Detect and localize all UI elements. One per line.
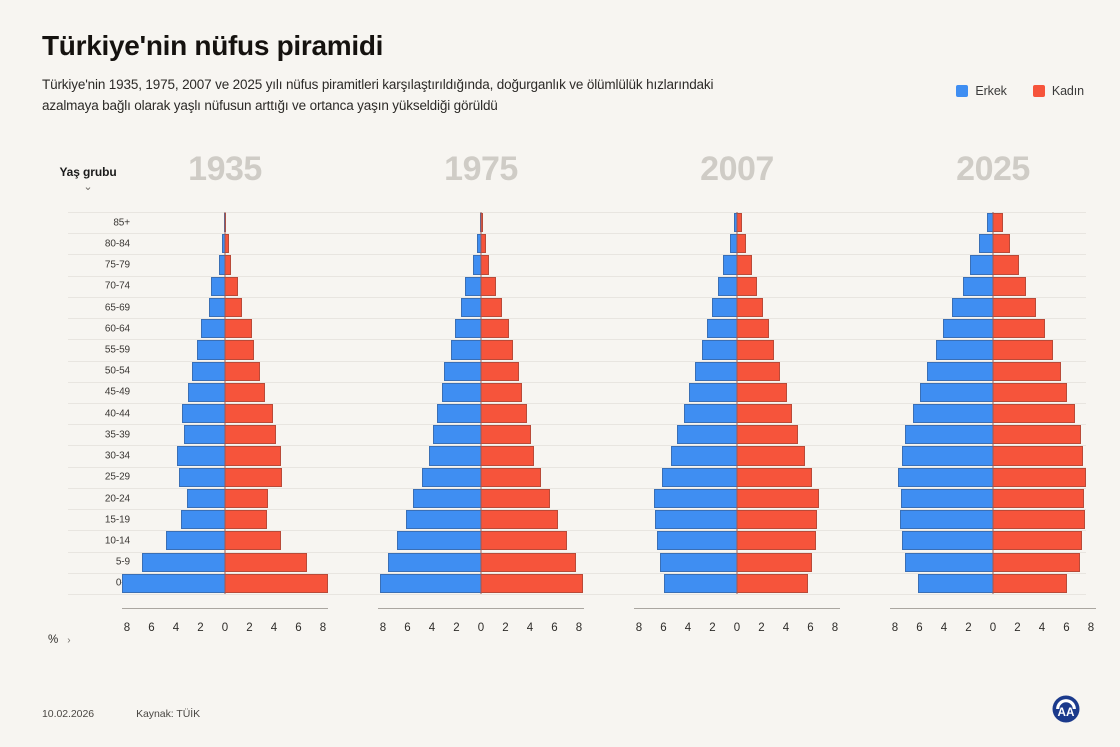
bar-male-1935-35-39[interactable]	[184, 425, 225, 444]
bar-male-1975-25-29[interactable]	[422, 468, 481, 487]
x-tick: 4	[1035, 622, 1049, 634]
x-axis-ticks-1935: 864202468	[110, 622, 340, 634]
bar-female-2007-85+[interactable]	[737, 213, 742, 232]
year-label-2025: 2025	[878, 152, 1108, 186]
bar-female-1975-45-49[interactable]	[481, 383, 522, 402]
x-tick: 2	[194, 622, 208, 634]
x-tick: 6	[401, 622, 415, 634]
bar-female-2007-15-19[interactable]	[737, 510, 817, 529]
bar-male-2025-40-44[interactable]	[913, 404, 993, 423]
bar-male-2007-60-64[interactable]	[707, 319, 737, 338]
bar-female-2007-30-34[interactable]	[737, 446, 805, 465]
bar-female-2007-10-14[interactable]	[737, 531, 816, 550]
bar-male-1935-60-64[interactable]	[201, 319, 225, 338]
center-axis-line	[993, 212, 994, 594]
bar-female-2025-55-59[interactable]	[993, 340, 1053, 359]
bar-male-2025-30-34[interactable]	[902, 446, 993, 465]
x-axis-rule-2007	[634, 608, 840, 609]
percent-symbol: %	[48, 634, 58, 646]
page-title: Türkiye'nin nüfus piramidi	[42, 30, 1082, 62]
bar-female-2007-45-49[interactable]	[737, 383, 787, 402]
bar-female-1975-5-9[interactable]	[481, 553, 576, 572]
bar-male-1935-65-69[interactable]	[209, 298, 225, 317]
bar-female-2025-65-69[interactable]	[993, 298, 1036, 317]
bar-female-2025-15-19[interactable]	[993, 510, 1085, 529]
bar-female-2007-60-64[interactable]	[737, 319, 769, 338]
x-tick: 4	[937, 622, 951, 634]
x-tick: 2	[499, 622, 513, 634]
bar-male-2007-0-4[interactable]	[664, 574, 737, 593]
year-label-2007: 2007	[622, 152, 852, 186]
pyramid-panel-2007: 2007864202468	[622, 150, 852, 660]
bar-female-2007-65-69[interactable]	[737, 298, 763, 317]
bar-male-1975-35-39[interactable]	[433, 425, 481, 444]
bar-male-1935-50-54[interactable]	[192, 362, 225, 381]
bar-male-1975-45-49[interactable]	[442, 383, 481, 402]
bar-female-1935-60-64[interactable]	[225, 319, 252, 338]
svg-text:AA: AA	[1058, 706, 1075, 719]
bar-male-2007-25-29[interactable]	[662, 468, 737, 487]
x-tick: 2	[1011, 622, 1025, 634]
plot-area-1975	[366, 212, 596, 594]
bar-female-1975-75-79[interactable]	[481, 255, 489, 274]
bar-female-2025-75-79[interactable]	[993, 255, 1019, 274]
bar-female-1935-70-74[interactable]	[225, 277, 238, 296]
x-axis-ticks-2025: 864202468	[878, 622, 1108, 634]
x-axis-rule-1935	[122, 608, 328, 609]
x-tick: 8	[1084, 622, 1098, 634]
bar-female-1935-30-34[interactable]	[225, 446, 281, 465]
bar-male-1935-15-19[interactable]	[181, 510, 225, 529]
legend-swatch-erkek	[956, 85, 968, 97]
bar-male-2007-65-69[interactable]	[712, 298, 737, 317]
bar-female-2007-55-59[interactable]	[737, 340, 774, 359]
bar-male-1935-45-49[interactable]	[188, 383, 225, 402]
bar-female-1975-20-24[interactable]	[481, 489, 550, 508]
bar-female-2025-70-74[interactable]	[993, 277, 1026, 296]
pyramid-panel-1975: 1975864202468	[366, 150, 596, 660]
plot-area-2007	[622, 212, 852, 594]
plot-area-1935	[110, 212, 340, 594]
bar-female-2007-80-84[interactable]	[737, 234, 746, 253]
bar-female-1975-70-74[interactable]	[481, 277, 496, 296]
bar-male-2007-45-49[interactable]	[689, 383, 737, 402]
bar-male-2007-40-44[interactable]	[684, 404, 737, 423]
bar-female-2007-50-54[interactable]	[737, 362, 780, 381]
x-tick: 4	[523, 622, 537, 634]
x-axis-ticks-1975: 864202468	[366, 622, 596, 634]
bar-female-1975-25-29[interactable]	[481, 468, 541, 487]
bar-male-2007-15-19[interactable]	[655, 510, 737, 529]
bar-female-1935-80-84[interactable]	[225, 234, 229, 253]
x-tick: 2	[706, 622, 720, 634]
bar-female-1975-10-14[interactable]	[481, 531, 567, 550]
bar-female-2025-30-34[interactable]	[993, 446, 1083, 465]
bar-male-2025-15-19[interactable]	[900, 510, 993, 529]
bar-female-1935-15-19[interactable]	[225, 510, 267, 529]
x-tick: 8	[572, 622, 586, 634]
bar-female-1975-35-39[interactable]	[481, 425, 531, 444]
x-tick: 4	[425, 622, 439, 634]
bar-male-2025-0-4[interactable]	[918, 574, 993, 593]
bar-male-2025-45-49[interactable]	[920, 383, 993, 402]
bar-male-2007-50-54[interactable]	[695, 362, 737, 381]
x-tick: 6	[292, 622, 306, 634]
bar-female-1975-60-64[interactable]	[481, 319, 509, 338]
bar-female-2007-20-24[interactable]	[737, 489, 819, 508]
bar-male-1975-20-24[interactable]	[413, 489, 481, 508]
x-tick: 0	[474, 622, 488, 634]
bar-male-1975-30-34[interactable]	[429, 446, 481, 465]
bar-female-2025-5-9[interactable]	[993, 553, 1080, 572]
bar-male-2025-25-29[interactable]	[898, 468, 993, 487]
bar-male-1975-5-9[interactable]	[388, 553, 481, 572]
bar-male-1935-55-59[interactable]	[197, 340, 225, 359]
x-tick: 8	[316, 622, 330, 634]
footer-date: 10.02.2026	[42, 708, 94, 720]
bar-male-1935-25-29[interactable]	[179, 468, 225, 487]
bar-female-1935-75-79[interactable]	[225, 255, 231, 274]
x-tick: 8	[120, 622, 134, 634]
center-axis-line	[481, 212, 482, 594]
legend-label-erkek: Erkek	[975, 84, 1006, 98]
bar-female-2007-70-74[interactable]	[737, 277, 757, 296]
bar-male-2007-5-9[interactable]	[660, 553, 737, 572]
x-tick: 4	[267, 622, 281, 634]
bar-male-1975-40-44[interactable]	[437, 404, 481, 423]
bar-male-1975-0-4[interactable]	[380, 574, 481, 593]
bar-male-2025-70-74[interactable]	[963, 277, 993, 296]
x-tick: 6	[913, 622, 927, 634]
bar-male-2025-65-69[interactable]	[952, 298, 993, 317]
bar-male-2025-60-64[interactable]	[943, 319, 993, 338]
bar-female-1935-10-14[interactable]	[225, 531, 281, 550]
year-label-1975: 1975	[366, 152, 596, 186]
bar-female-2025-85+[interactable]	[993, 213, 1003, 232]
bar-female-2025-0-4[interactable]	[993, 574, 1067, 593]
bar-male-2007-70-74[interactable]	[718, 277, 737, 296]
bar-female-2007-35-39[interactable]	[737, 425, 798, 444]
bar-female-2025-20-24[interactable]	[993, 489, 1084, 508]
chevron-right-icon: ›	[67, 635, 70, 646]
bar-male-1975-60-64[interactable]	[455, 319, 481, 338]
bar-male-1935-20-24[interactable]	[187, 489, 225, 508]
bar-female-1935-20-24[interactable]	[225, 489, 268, 508]
x-tick: 4	[169, 622, 183, 634]
bar-female-2007-75-79[interactable]	[737, 255, 752, 274]
x-tick: 6	[657, 622, 671, 634]
bar-female-1935-35-39[interactable]	[225, 425, 276, 444]
x-tick: 2	[450, 622, 464, 634]
x-tick: 4	[681, 622, 695, 634]
footer-source: Kaynak: TÜİK	[136, 708, 200, 720]
page-subtitle: Türkiye'nin 1935, 1975, 2007 ve 2025 yıl…	[42, 75, 772, 117]
header: Türkiye'nin nüfus piramidi Türkiye'nin 1…	[42, 30, 1082, 117]
x-tick: 8	[632, 622, 646, 634]
x-tick: 2	[243, 622, 257, 634]
legend-swatch-kadin	[1033, 85, 1045, 97]
bar-female-1975-40-44[interactable]	[481, 404, 527, 423]
bar-female-1975-55-59[interactable]	[481, 340, 513, 359]
x-tick: 8	[376, 622, 390, 634]
bar-female-1935-65-69[interactable]	[225, 298, 242, 317]
bar-female-1935-25-29[interactable]	[225, 468, 282, 487]
bar-female-1935-50-54[interactable]	[225, 362, 260, 381]
bar-female-2007-5-9[interactable]	[737, 553, 812, 572]
pyramid-panel-1935: 1935864202468	[110, 150, 340, 660]
x-tick: 0	[218, 622, 232, 634]
bar-male-1975-15-19[interactable]	[406, 510, 481, 529]
x-tick: 8	[828, 622, 842, 634]
bar-male-2025-75-79[interactable]	[970, 255, 993, 274]
bar-female-1935-45-49[interactable]	[225, 383, 265, 402]
footer: 10.02.2026 Kaynak: TÜİK	[42, 708, 200, 720]
x-tick: 0	[986, 622, 1000, 634]
bar-male-2007-55-59[interactable]	[702, 340, 737, 359]
legend: Erkek Kadın	[956, 84, 1084, 98]
bar-male-2025-50-54[interactable]	[927, 362, 993, 381]
bar-male-2025-35-39[interactable]	[905, 425, 993, 444]
bar-male-1935-10-14[interactable]	[166, 531, 225, 550]
bar-female-1975-30-34[interactable]	[481, 446, 534, 465]
bar-female-1935-5-9[interactable]	[225, 553, 307, 572]
bar-male-1935-30-34[interactable]	[177, 446, 225, 465]
bar-female-2025-10-14[interactable]	[993, 531, 1082, 550]
bar-female-2025-45-49[interactable]	[993, 383, 1067, 402]
pyramid-panel-2025: 2025864202468	[878, 150, 1108, 660]
bar-female-1935-40-44[interactable]	[225, 404, 273, 423]
bar-male-2007-75-79[interactable]	[723, 255, 737, 274]
bar-female-1975-15-19[interactable]	[481, 510, 558, 529]
center-axis-line	[737, 212, 738, 594]
bar-male-2007-10-14[interactable]	[657, 531, 737, 550]
aa-logo: AA	[1048, 691, 1084, 727]
x-tick: 4	[779, 622, 793, 634]
bar-male-2025-10-14[interactable]	[902, 531, 993, 550]
year-label-1935: 1935	[110, 152, 340, 186]
legend-item-erkek[interactable]: Erkek	[956, 84, 1006, 98]
x-tick: 2	[755, 622, 769, 634]
bar-female-2007-0-4[interactable]	[737, 574, 808, 593]
bar-male-2025-80-84[interactable]	[979, 234, 993, 253]
bar-female-1935-55-59[interactable]	[225, 340, 254, 359]
x-tick: 6	[548, 622, 562, 634]
x-tick: 6	[1060, 622, 1074, 634]
bar-male-1975-50-54[interactable]	[444, 362, 481, 381]
bar-male-2025-5-9[interactable]	[905, 553, 993, 572]
bar-female-2025-35-39[interactable]	[993, 425, 1081, 444]
bar-female-2025-40-44[interactable]	[993, 404, 1075, 423]
x-tick: 2	[962, 622, 976, 634]
legend-item-kadin[interactable]: Kadın	[1033, 84, 1084, 98]
x-tick: 8	[888, 622, 902, 634]
center-axis-line	[225, 212, 226, 594]
bar-male-2025-55-59[interactable]	[936, 340, 993, 359]
bar-female-2025-25-29[interactable]	[993, 468, 1086, 487]
x-tick: 0	[730, 622, 744, 634]
bar-female-2007-25-29[interactable]	[737, 468, 812, 487]
bar-female-1935-0-4[interactable]	[225, 574, 328, 593]
x-tick: 6	[145, 622, 159, 634]
bar-male-1935-70-74[interactable]	[211, 277, 225, 296]
plot-area-2025	[878, 212, 1108, 594]
bar-female-2025-80-84[interactable]	[993, 234, 1010, 253]
x-tick: 6	[804, 622, 818, 634]
bar-female-1975-65-69[interactable]	[481, 298, 502, 317]
bar-male-1935-5-9[interactable]	[142, 553, 225, 572]
bar-male-2007-30-34[interactable]	[671, 446, 737, 465]
bar-female-2025-50-54[interactable]	[993, 362, 1061, 381]
bar-female-1975-80-84[interactable]	[481, 234, 486, 253]
x-axis-rule-1975	[378, 608, 584, 609]
bar-male-2007-35-39[interactable]	[677, 425, 737, 444]
x-axis-rule-2025	[890, 608, 1096, 609]
bar-male-1975-10-14[interactable]	[397, 531, 481, 550]
bar-female-1975-0-4[interactable]	[481, 574, 583, 593]
bar-female-2025-60-64[interactable]	[993, 319, 1045, 338]
bar-female-1975-50-54[interactable]	[481, 362, 519, 381]
bar-male-1935-40-44[interactable]	[182, 404, 225, 423]
bar-male-2007-20-24[interactable]	[654, 489, 737, 508]
bar-male-1975-65-69[interactable]	[461, 298, 481, 317]
bar-male-1975-70-74[interactable]	[465, 277, 481, 296]
percent-axis-marker: % ›	[48, 634, 71, 646]
bar-male-1935-0-4[interactable]	[122, 574, 225, 593]
x-axis-ticks-2007: 864202468	[622, 622, 852, 634]
bar-female-2007-40-44[interactable]	[737, 404, 792, 423]
pyramid-charts: 1935864202468197586420246820078642024682…	[42, 150, 1082, 660]
bar-male-1975-55-59[interactable]	[451, 340, 481, 359]
legend-label-kadin: Kadın	[1052, 84, 1084, 98]
bar-male-2025-20-24[interactable]	[901, 489, 993, 508]
